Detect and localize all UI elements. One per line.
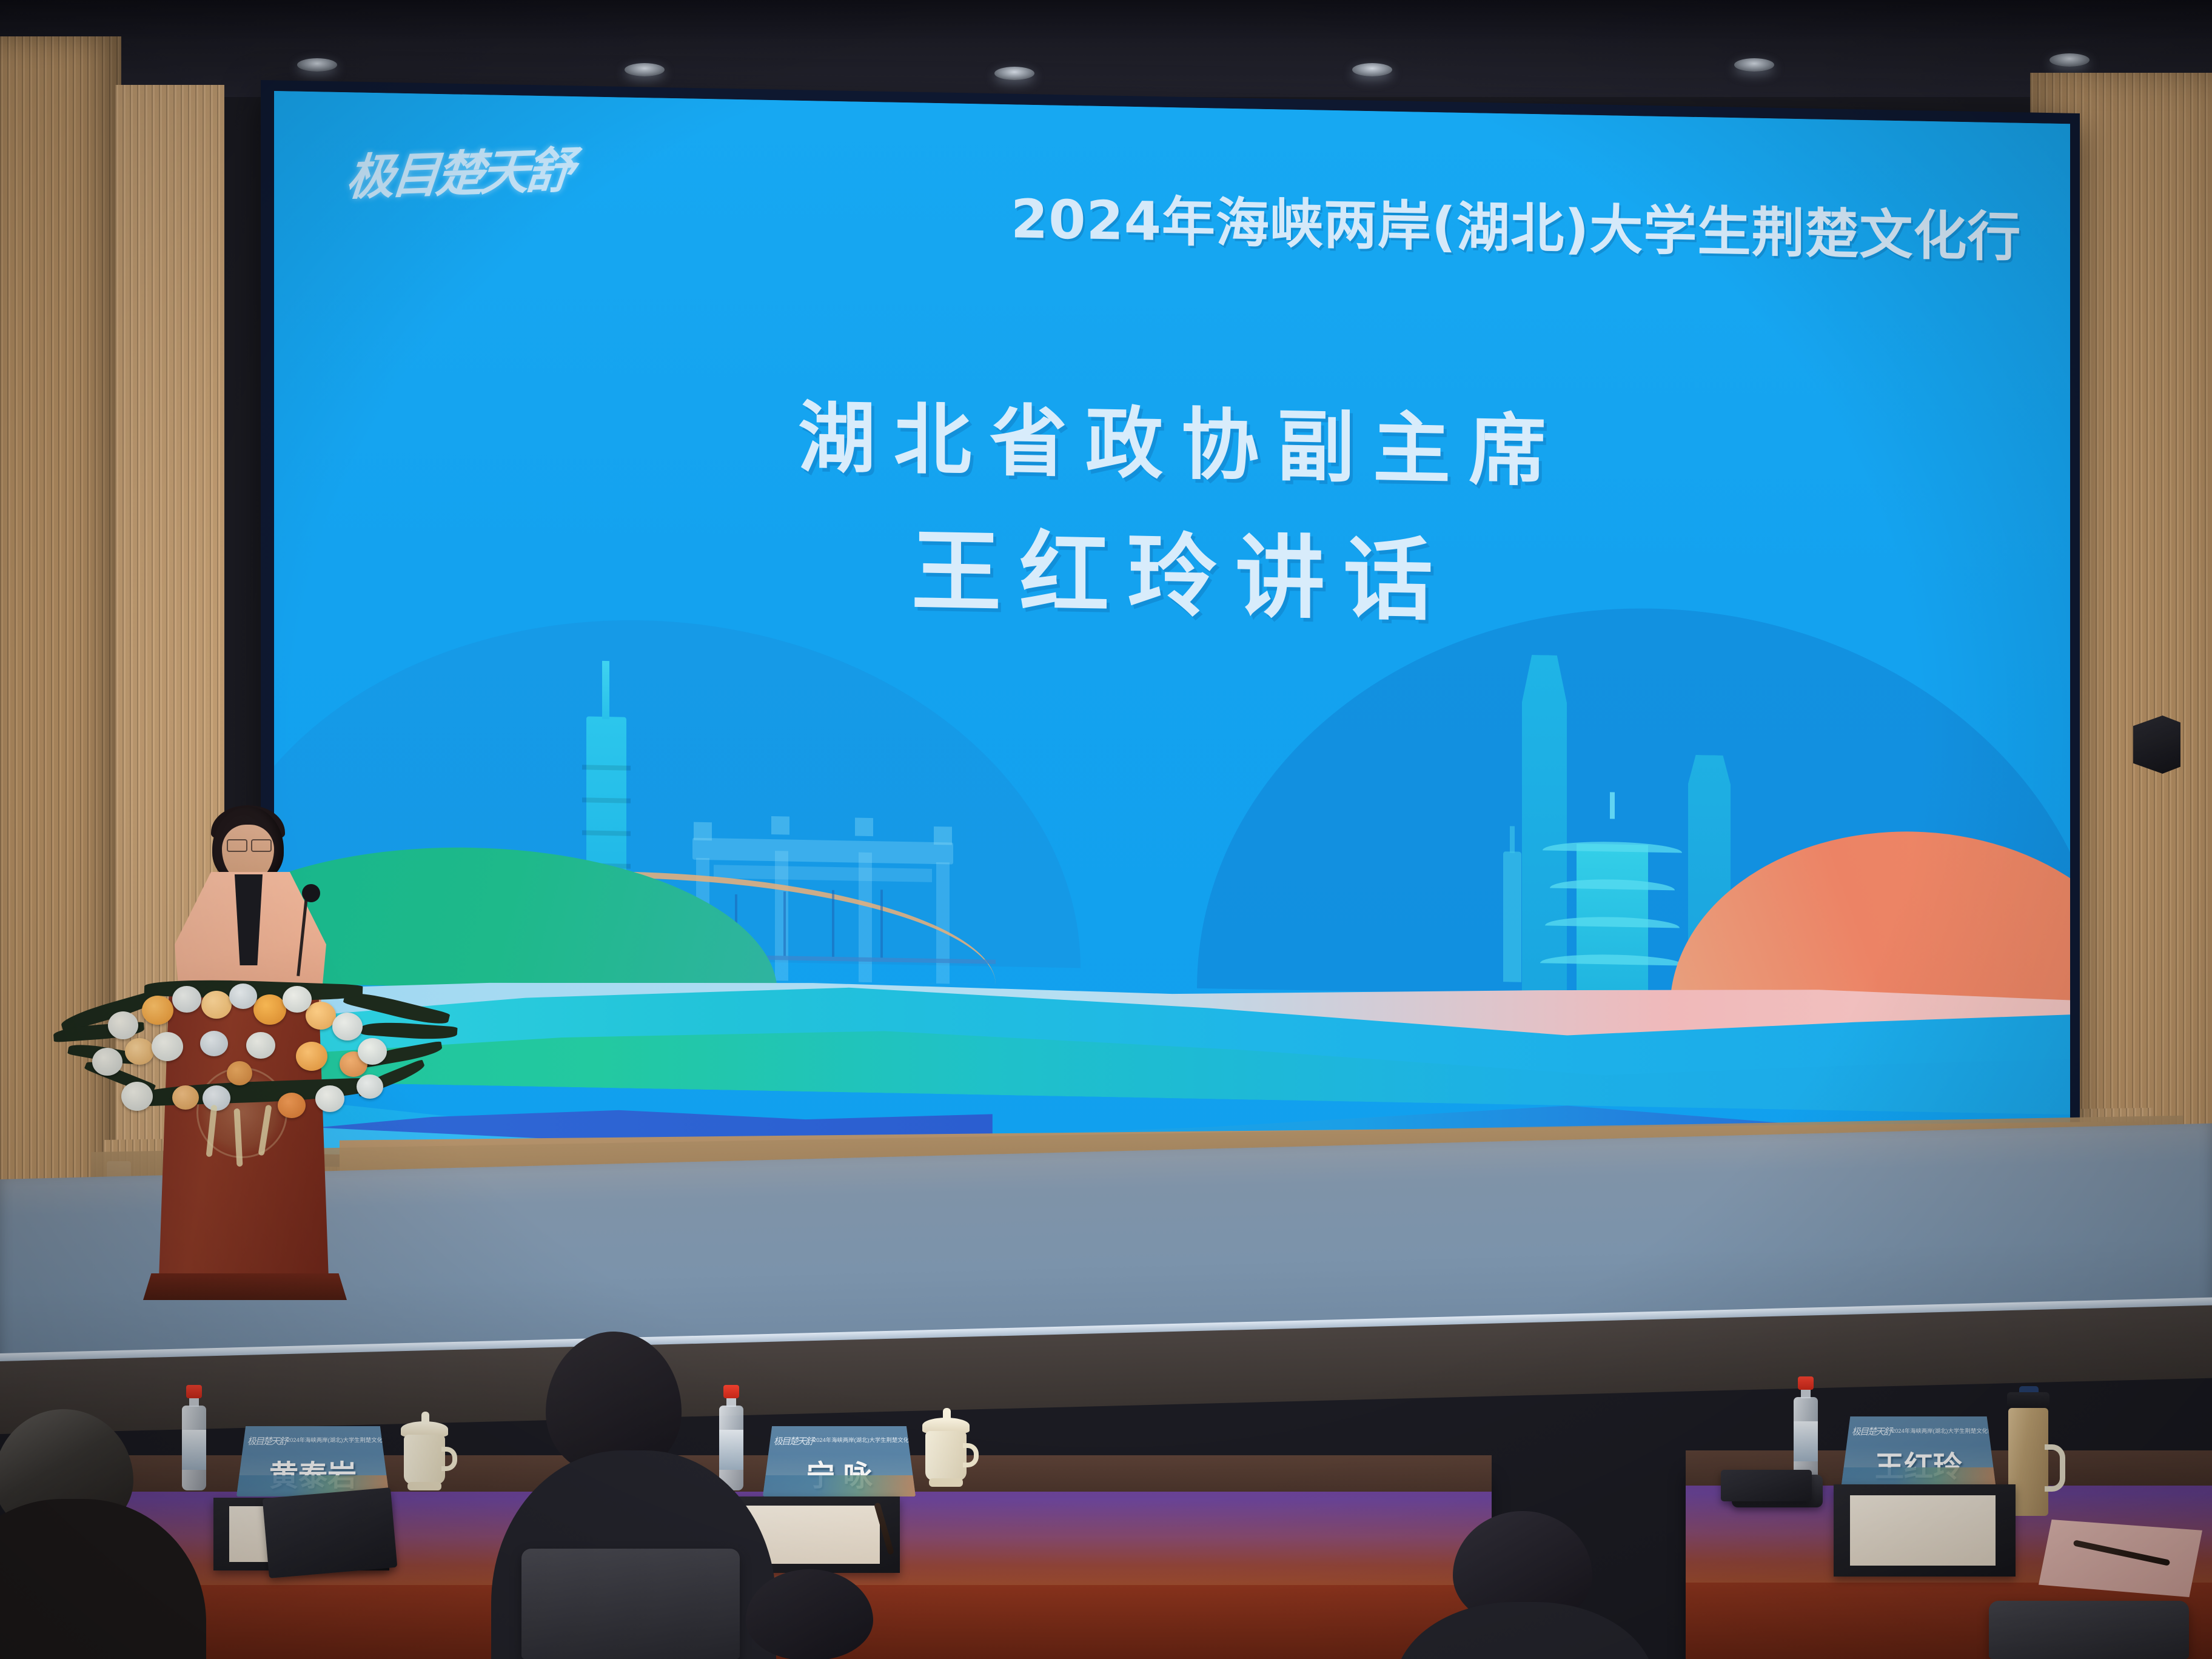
attendee-center-right [679, 1569, 934, 1659]
chair-right [1989, 1601, 2189, 1659]
ceiling-light [625, 63, 665, 76]
calligraphy-logo: 极目楚天舒 [343, 146, 548, 220]
nameplate-left: 极目楚天舒 2024年海峡两岸(湖北)大学生荆楚文化行 黄泰岩 [236, 1426, 389, 1496]
ceiling-light [1734, 58, 1774, 72]
attendee-head [746, 1569, 873, 1659]
podium-base [143, 1273, 347, 1300]
ceiling-dark-strip [0, 0, 2212, 39]
tablet-device-right [1721, 1470, 1812, 1501]
leather-portfolio-right [1834, 1484, 2016, 1577]
nameplate-center: 极目楚天舒 2024年海峡两岸(湖北)大学生荆楚文化行 宁 咏 [763, 1426, 916, 1496]
nameplate-logo: 极目楚天舒 [1852, 1425, 1891, 1438]
nameplate-event-line: 2024年海峡两岸(湖北)大学生荆楚文化行 [813, 1436, 914, 1444]
tower-icon [1503, 851, 1521, 982]
nameplate-logo: 极目楚天舒 [774, 1435, 813, 1447]
ceiling-light [2049, 53, 2090, 67]
attendee-shoulders [1395, 1602, 1655, 1659]
nameplate-event-line: 2024年海峡两岸(湖北)大学生荆楚文化行 [1892, 1427, 1993, 1435]
tea-cup-with-lid [923, 1409, 971, 1487]
ceiling-light [1352, 63, 1392, 76]
microphone-icon [302, 884, 320, 902]
tea-cup-with-lid [401, 1413, 450, 1490]
nameplate-event-line: 2024年海峡两岸(湖北)大学生荆楚文化行 [287, 1436, 388, 1444]
ceiling-light [994, 67, 1034, 80]
wall-mounted-speaker [2133, 716, 2180, 774]
water-bottle [1794, 1380, 1818, 1482]
attendee-far-left [0, 1409, 206, 1659]
glasses-icon [227, 839, 272, 850]
attendee-shoulders [0, 1499, 206, 1659]
tablet-device-left [263, 1487, 398, 1578]
nameplate-right: 极目楚天舒 2024年海峡两岸(湖北)大学生荆楚文化行 王红玲 [1841, 1416, 1996, 1489]
ceiling-light [297, 58, 337, 72]
nameplate-logo: 极目楚天舒 [247, 1435, 287, 1447]
pink-cloth [2039, 1520, 2202, 1597]
led-screen: 极目楚天舒 2024年海峡两岸(湖北)大学生荆楚文化行 湖北省政协副主席 王红玲… [274, 91, 2070, 1186]
attendee-center [1395, 1511, 1655, 1659]
podium-area [108, 806, 447, 1328]
nameplate-artwork [763, 1475, 916, 1496]
yellow-crane-tower-icon [1543, 794, 1682, 997]
flower-bouquet [53, 923, 454, 1165]
conference-hall-photo: 极目楚天舒 2024年海峡两岸(湖北)大学生荆楚文化行 湖北省政协副主席 王红玲… [0, 0, 2212, 1659]
